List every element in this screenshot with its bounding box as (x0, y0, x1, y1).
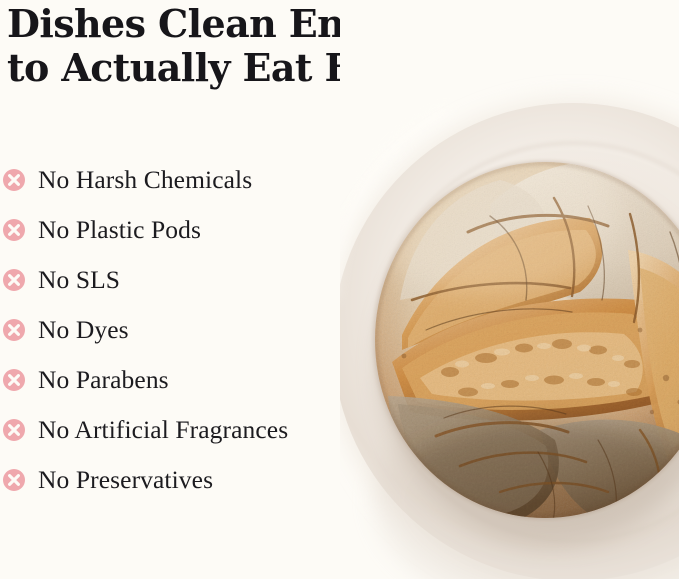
x-circle-icon (3, 219, 25, 241)
list-item-label: No Harsh Chemicals (38, 166, 252, 194)
list-item: No SLS (0, 255, 360, 305)
list-item: No Plastic Pods (0, 205, 360, 255)
list-item-label: No SLS (38, 266, 120, 294)
bread-on-plate-illustration (340, 0, 679, 579)
list-item-label: No Preservatives (38, 466, 213, 494)
list-item-label: No Dyes (38, 316, 129, 344)
x-circle-icon (3, 469, 25, 491)
promotional-graphic: Dishes Clean Enough to Actually Eat From… (0, 0, 679, 579)
list-item-label: No Parabens (38, 366, 169, 394)
bread-on-plate-photo (340, 0, 679, 579)
list-item: No Preservatives (0, 455, 360, 505)
list-item: No Harsh Chemicals (0, 155, 360, 205)
benefit-list: No Harsh Chemicals No Plastic Pods No SL… (0, 155, 360, 505)
list-item: No Artificial Fragrances (0, 405, 360, 455)
list-item-label: No Plastic Pods (38, 216, 201, 244)
x-circle-icon (3, 419, 25, 441)
x-circle-icon (3, 319, 25, 341)
x-circle-icon (3, 269, 25, 291)
list-item: No Parabens (0, 355, 360, 405)
x-circle-icon (3, 169, 25, 191)
x-circle-icon (3, 369, 25, 391)
list-item: No Dyes (0, 305, 360, 355)
list-item-label: No Artificial Fragrances (38, 416, 288, 444)
